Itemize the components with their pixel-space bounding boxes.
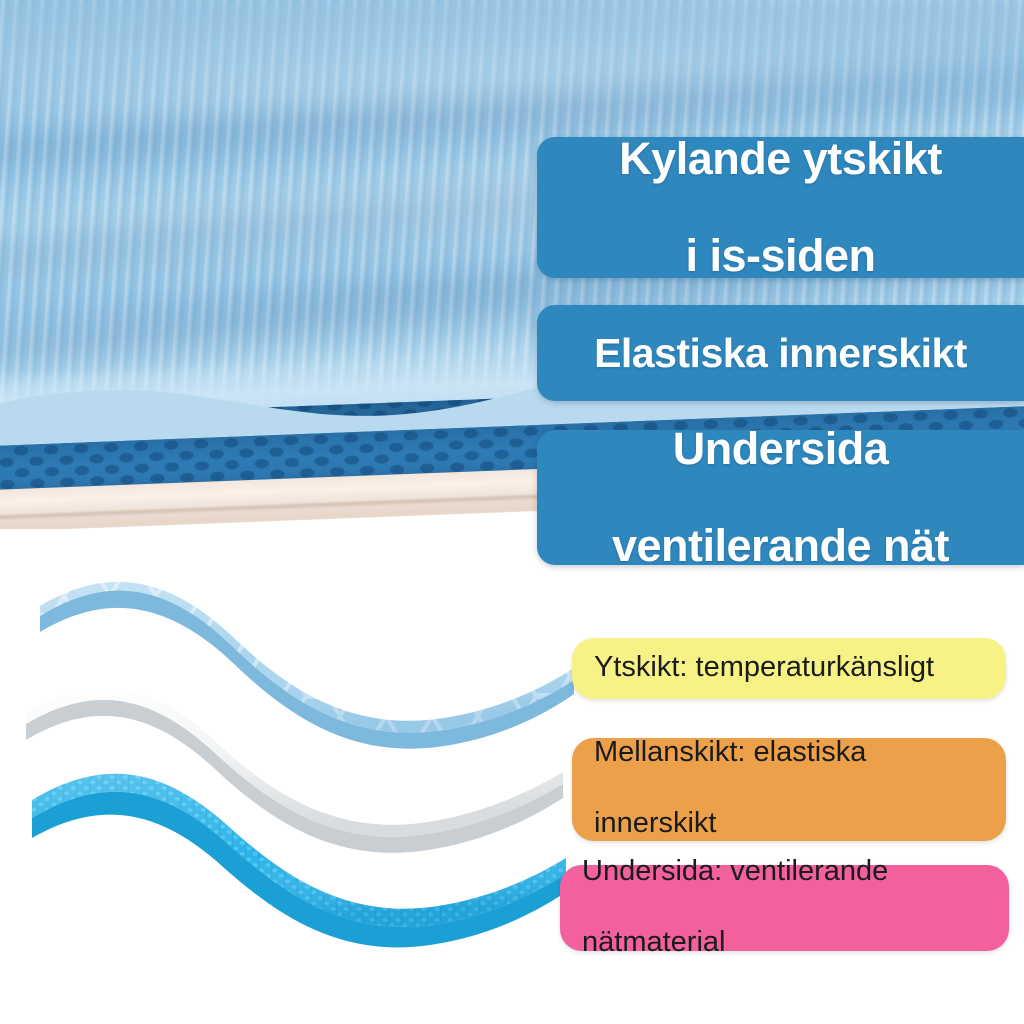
banner-1-text-2: i is-siden: [605, 232, 956, 281]
banner-elastic-inner-layer: Elastiska innerskikt: [537, 305, 1024, 401]
bottom-layer-sheet: [32, 774, 566, 948]
pill-bottom-layer-text: Undersida: ventilerande nätmaterial: [582, 854, 888, 960]
banner-1-line-1: Kylande ytskikt i is-siden: [591, 135, 970, 281]
pill-top-layer-text: Ytskikt: temperaturkänsligt: [594, 650, 934, 685]
pill-middle-layer-text: Mellanskikt: elastiska innerskikt: [594, 735, 866, 841]
banner-3-text-1: Undersida: [598, 425, 963, 474]
pill-bottom-layer-text-1: Undersida: ventilerande: [582, 854, 888, 889]
banner-cooling-top-layer: Kylande ytskikt i is-siden: [537, 137, 1024, 278]
exploded-layer-diagram: [18, 576, 578, 976]
photo-depth-blur: [0, 0, 1024, 120]
banner-3-text-2: ventilerande nät: [598, 522, 963, 571]
pill-top-layer: Ytskikt: temperaturkänsligt: [572, 638, 1006, 699]
banner-1-text-1: Kylande ytskikt: [605, 135, 956, 184]
top-layer-sheet: [40, 582, 574, 749]
banner-3-lines: Undersida ventilerande nät: [584, 425, 977, 571]
pill-middle-layer: Mellanskikt: elastiska innerskikt: [572, 738, 1006, 841]
pill-bottom-layer: Undersida: ventilerande nätmaterial: [560, 865, 1009, 951]
pill-middle-layer-text-2: innerskikt: [594, 806, 866, 841]
banner-ventilating-underside: Undersida ventilerande nät: [537, 430, 1024, 565]
pill-bottom-layer-text-2: nätmaterial: [582, 925, 888, 960]
pill-middle-layer-text-1: Mellanskikt: elastiska: [594, 735, 866, 770]
banner-2-text-1: Elastiska innerskikt: [580, 331, 981, 375]
